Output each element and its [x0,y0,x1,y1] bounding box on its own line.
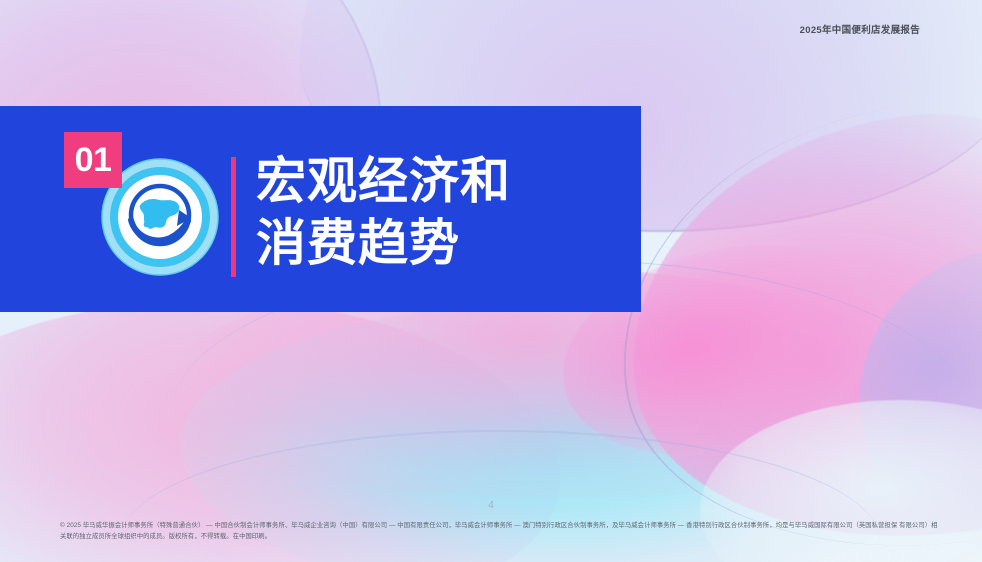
section-number-badge: 01 [64,132,122,188]
title-divider [231,157,236,277]
background-edge-bottom-sweep [120,430,880,562]
legal-footer: © 2025 毕马威华振会计师事务所（特殊普通合伙） — 中国合伙制会计师事务所… [60,521,940,542]
presentation-slide: 2025年中国便利店发展报告 01 宏观经 [0,0,982,562]
section-number-label: 01 [75,143,112,177]
page-number: 4 [0,500,982,511]
section-title-line-1: 宏观经济和 [256,150,511,212]
background-blob-pink-main [603,86,982,562]
background-edge-pink [592,74,982,562]
section-title: 宏观经济和 消费趋势 [256,150,511,274]
report-title-header: 2025年中国便利店发展报告 [800,22,920,36]
section-title-line-2: 消费趋势 [256,212,511,274]
legal-footer-line-1: © 2025 毕马威华振会计师事务所（特殊普通合伙） — 中国合伙制会计师事务所… [60,522,897,529]
